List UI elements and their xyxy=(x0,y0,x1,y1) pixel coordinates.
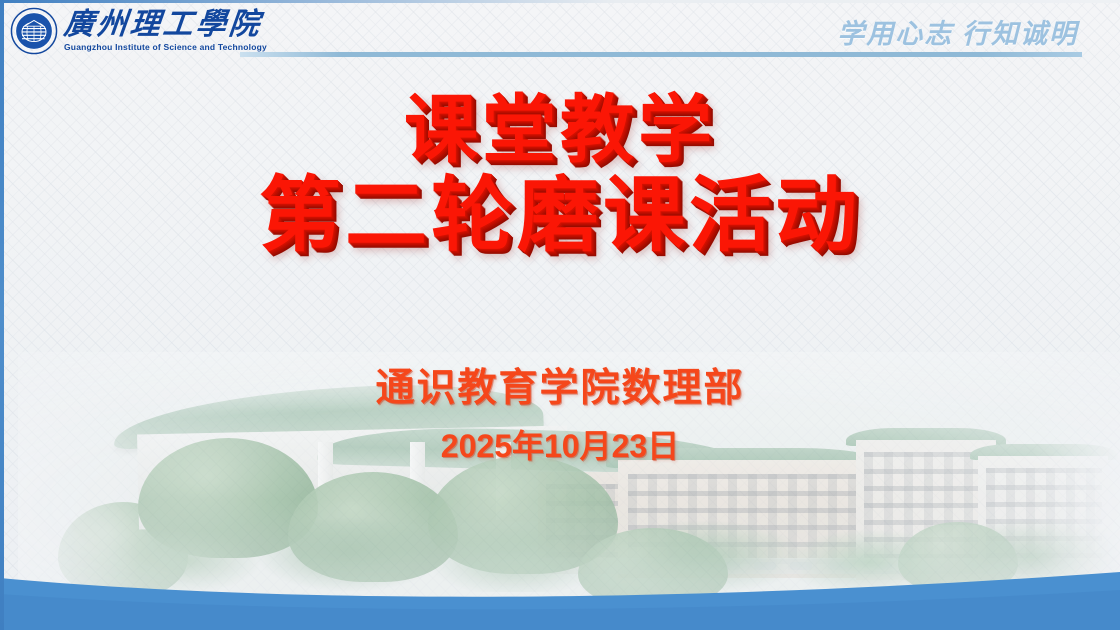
presentation-slide: 廣州理工學院 Guangzhou Institute of Science an… xyxy=(0,0,1120,630)
footer-wave-band xyxy=(0,560,1120,630)
slide-header: 廣州理工學院 Guangzhou Institute of Science an… xyxy=(0,0,1120,72)
page-title-line1: 课堂教学 xyxy=(0,92,1120,168)
title-block: 课堂教学 第二轮磨课活动 xyxy=(0,92,1120,259)
organization-subtitle: 通识教育学院数理部 xyxy=(0,357,1120,413)
university-seal-icon xyxy=(10,7,58,55)
university-motto: 学用心志 行知诚明 xyxy=(837,12,1078,51)
presentation-date: 2025年10月23日 xyxy=(0,421,1120,467)
university-name-block: 廣州理工學院 Guangzhou Institute of Science an… xyxy=(64,10,267,52)
university-name-cn: 廣州理工學院 xyxy=(62,10,268,40)
university-name-en: Guangzhou Institute of Science and Techn… xyxy=(64,43,267,52)
university-logo: 廣州理工學院 Guangzhou Institute of Science an… xyxy=(10,7,267,55)
page-title-line2: 第二轮磨课活动 xyxy=(0,174,1120,258)
header-divider xyxy=(240,52,1082,57)
